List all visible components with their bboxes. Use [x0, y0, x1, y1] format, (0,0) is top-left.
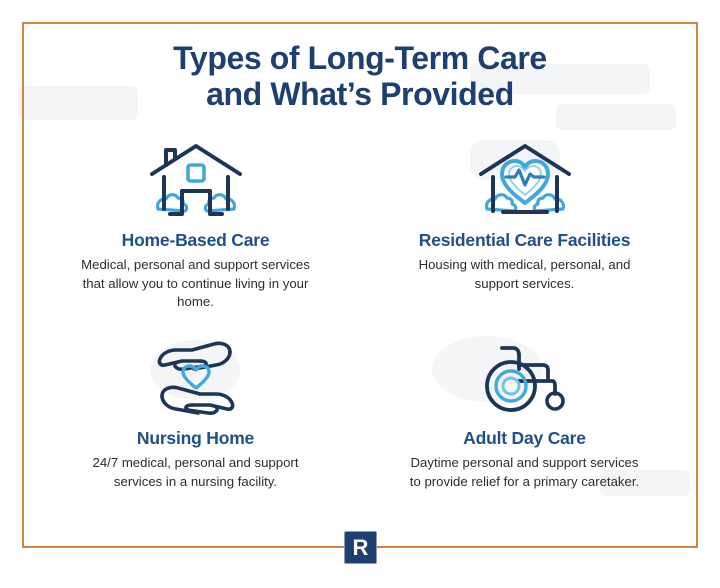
infographic-canvas: Types of Long-Term Care and What’s Provi…: [0, 0, 720, 588]
care-card-title: Adult Day Care: [463, 428, 586, 449]
house-heart-icon: [470, 138, 580, 224]
care-card-home-based: Home-Based Care Medical, personal and su…: [34, 134, 357, 328]
care-card-title: Residential Care Facilities: [419, 230, 631, 251]
care-card-description: 24/7 medical, personal and support servi…: [78, 454, 314, 491]
care-card-description: Daytime personal and support services to…: [407, 454, 643, 491]
care-types-grid: Home-Based Care Medical, personal and su…: [34, 134, 686, 526]
care-card-nursing-home: Nursing Home 24/7 medical, personal and …: [34, 332, 357, 526]
page-title: Types of Long-Term Care and What’s Provi…: [22, 40, 698, 113]
care-card-title: Nursing Home: [137, 428, 254, 449]
care-card-residential: Residential Care Facilities Housing with…: [363, 134, 686, 328]
care-card-title: Home-Based Care: [122, 230, 270, 251]
care-card-description: Housing with medical, personal, and supp…: [407, 256, 643, 293]
title-line-2: and What’s Provided: [22, 76, 698, 112]
ramsey-logo-letter: R: [353, 537, 369, 559]
house-icon: [141, 138, 251, 224]
care-card-description: Medical, personal and support services t…: [78, 256, 314, 312]
title-line-1: Types of Long-Term Care: [173, 40, 547, 76]
ramsey-logo: R: [344, 531, 377, 564]
wheelchair-icon: [470, 336, 580, 422]
care-card-adult-day-care: Adult Day Care Daytime personal and supp…: [363, 332, 686, 526]
caring-hands-heart-icon: [141, 336, 251, 422]
